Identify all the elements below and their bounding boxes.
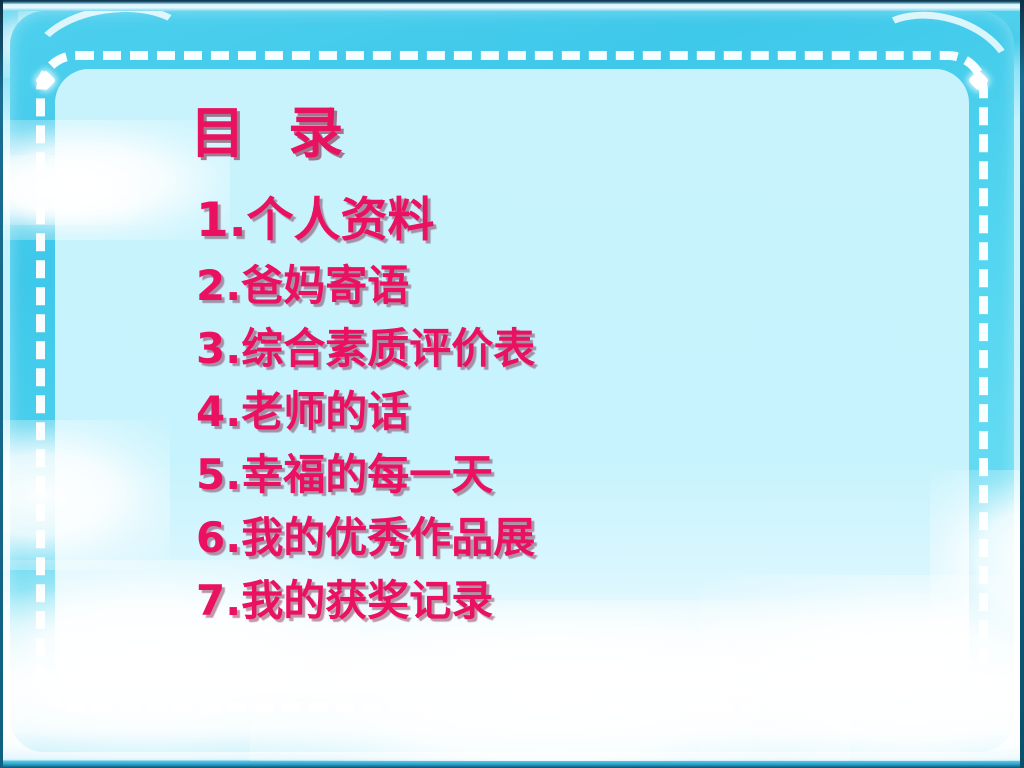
list-item-number: 5. [196, 450, 241, 499]
list-item[interactable]: 3.综合素质评价表 [196, 317, 535, 380]
list-item[interactable]: 7.我的获奖记录 [196, 569, 535, 632]
list-item[interactable]: 6.我的优秀作品展 [196, 506, 535, 569]
list-item-label: 我的优秀作品展 [241, 513, 535, 562]
slide-content: 目 录 1.个人资料 2.爸妈寄语 3.综合素质评价表 4.老师的话 5.幸福的… [0, 0, 1024, 768]
list-item[interactable]: 1.个人资料 [196, 188, 535, 254]
list-item-number: 1. [196, 193, 247, 248]
list-item[interactable]: 5.幸福的每一天 [196, 443, 535, 506]
page-title: 目 录 [190, 105, 355, 160]
list-item-label: 爸妈寄语 [241, 261, 409, 310]
list-item-label: 幸福的每一天 [241, 450, 493, 499]
list-item-number: 2. [196, 261, 241, 310]
list-item-number: 3. [196, 324, 241, 373]
list-item-number: 7. [196, 576, 241, 625]
list-item[interactable]: 4.老师的话 [196, 380, 535, 443]
list-item-number: 6. [196, 513, 241, 562]
list-item-label: 综合素质评价表 [241, 324, 535, 373]
table-of-contents-list: 1.个人资料 2.爸妈寄语 3.综合素质评价表 4.老师的话 5.幸福的每一天 … [196, 188, 535, 632]
list-item-label: 老师的话 [241, 387, 409, 436]
list-item-label: 个人资料 [247, 193, 435, 248]
list-item-label: 我的获奖记录 [241, 576, 493, 625]
list-item-number: 4. [196, 387, 241, 436]
list-item[interactable]: 2.爸妈寄语 [196, 254, 535, 317]
presentation-slide: 目 录 1.个人资料 2.爸妈寄语 3.综合素质评价表 4.老师的话 5.幸福的… [0, 0, 1024, 768]
